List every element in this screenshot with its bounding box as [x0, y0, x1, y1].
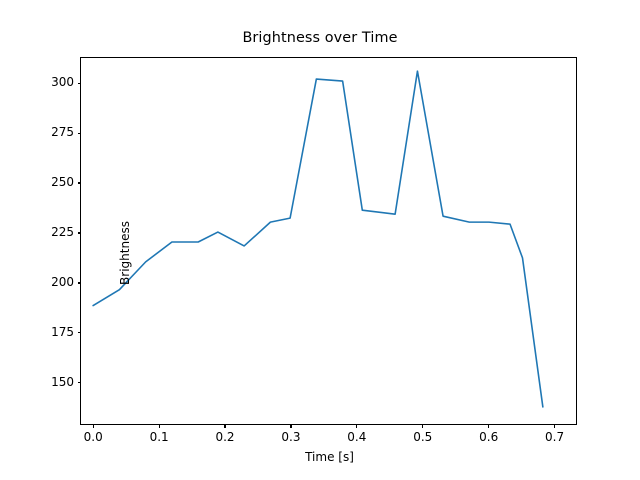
- brightness-line: [93, 71, 543, 407]
- x-tick-label: 0.4: [327, 430, 387, 444]
- y-tick-mark: [78, 182, 82, 183]
- y-tick-label: 200: [14, 275, 74, 289]
- y-tick-mark: [78, 133, 82, 134]
- x-tick-label: 0.6: [459, 430, 519, 444]
- y-tick-label: 150: [14, 375, 74, 389]
- y-tick-label: 275: [14, 125, 74, 139]
- x-tick-label: 0.1: [129, 430, 189, 444]
- y-tick-label: 225: [14, 225, 74, 239]
- x-tick-mark: [159, 424, 160, 428]
- y-tick-mark: [78, 232, 82, 233]
- chart-title: Brightness over Time: [0, 30, 640, 46]
- y-tick-mark: [78, 332, 82, 333]
- x-tick-mark: [554, 424, 555, 428]
- y-tick-mark: [78, 83, 82, 84]
- x-tick-mark: [422, 424, 423, 428]
- x-tick-label: 0.3: [261, 430, 321, 444]
- data-line-series: [81, 58, 576, 424]
- x-axis-label: Time [s]: [81, 450, 578, 464]
- plot-area: Brightness Time [s] 15017520022525027530…: [80, 57, 577, 425]
- y-tick-mark: [78, 382, 82, 383]
- x-tick-label: 0.2: [195, 430, 255, 444]
- x-tick-mark: [290, 424, 291, 428]
- x-tick-label: 0.5: [393, 430, 453, 444]
- y-axis-label: Brightness: [118, 193, 132, 313]
- x-tick-mark: [224, 424, 225, 428]
- x-tick-mark: [93, 424, 94, 428]
- x-tick-mark: [488, 424, 489, 428]
- matplotlib-figure: Brightness over Time Brightness Time [s]…: [0, 0, 640, 480]
- x-tick-mark: [356, 424, 357, 428]
- y-tick-label: 175: [14, 325, 74, 339]
- y-tick-mark: [78, 282, 82, 283]
- y-tick-label: 300: [14, 75, 74, 89]
- x-tick-label: 0.7: [525, 430, 585, 444]
- y-tick-label: 250: [14, 175, 74, 189]
- x-tick-label: 0.0: [63, 430, 123, 444]
